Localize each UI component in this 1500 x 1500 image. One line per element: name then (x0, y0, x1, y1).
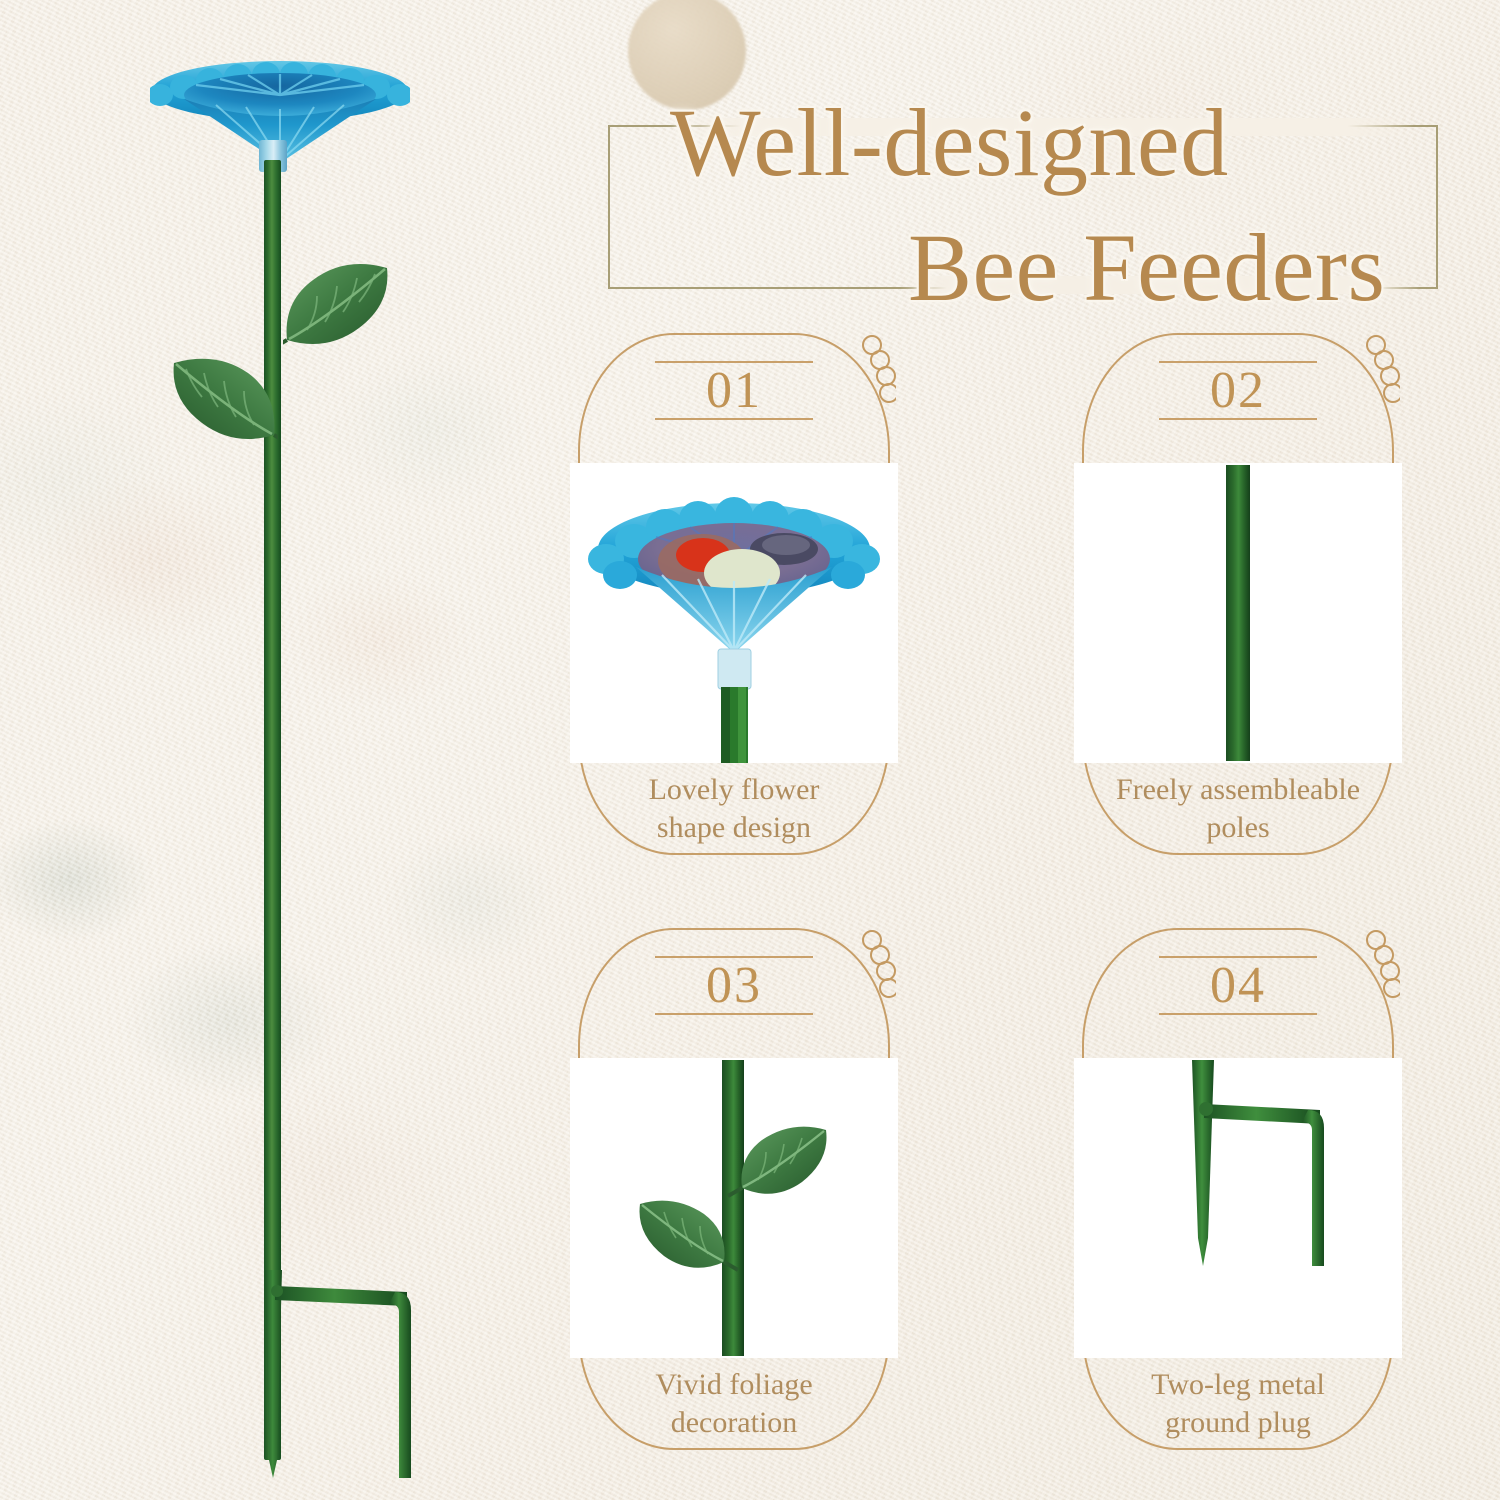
card-caption-02-line2: poles (1092, 809, 1384, 847)
two-leg-ground-stake-art (1074, 1058, 1402, 1358)
card-caption-03-line1: Vivid foliage (588, 1366, 880, 1404)
card-number-04: 04 (1082, 958, 1394, 1013)
card-number-block-04: 04 (1082, 956, 1394, 1015)
card-caption-03-line2: decoration (588, 1404, 880, 1442)
card-caption-01: Lovely flower shape design (588, 771, 880, 847)
card-image-band-01 (570, 463, 898, 763)
card-number-block-03: 03 (578, 956, 890, 1015)
header-block: Well-designed Bee Feeders (600, 40, 1450, 305)
green-pole-segment-art (1074, 463, 1402, 763)
feature-card-01[interactable]: 01 (578, 333, 890, 855)
card-number-block-02: 02 (1082, 361, 1394, 420)
card-caption-01-line1: Lovely flower (588, 771, 880, 809)
card-number-01: 01 (578, 363, 890, 418)
infographic-canvas: Well-designed Bee Feeders (0, 0, 1500, 1500)
ground-stake-legs (255, 1270, 445, 1500)
page-title-line-1: Well-designed (670, 87, 1229, 198)
product-hero-image (0, 0, 560, 1500)
card-caption-03: Vivid foliage decoration (588, 1366, 880, 1442)
card-image-band-03 (570, 1058, 898, 1358)
card-image-band-02 (1074, 463, 1402, 763)
feature-card-03[interactable]: 03 (578, 928, 890, 1450)
feature-card-04[interactable]: 04 (1082, 928, 1394, 1450)
feature-card-02[interactable]: 02 (1082, 333, 1394, 855)
card-caption-01-line2: shape design (588, 809, 880, 847)
stem-with-two-leaves-art (570, 1058, 898, 1358)
card-caption-02: Freely assembleable poles (1092, 771, 1384, 847)
card-image-band-04 (1074, 1058, 1402, 1358)
card-number-03: 03 (578, 958, 890, 1013)
page-title-line-2: Bee Feeders (908, 212, 1385, 323)
leaf-lower-left (168, 355, 278, 447)
card-caption-04-line1: Two-leg metal (1092, 1366, 1384, 1404)
card-caption-04-line2: ground plug (1092, 1404, 1384, 1442)
flower-dish-closeup-art (570, 463, 898, 763)
card-caption-04: Two-leg metal ground plug (1092, 1366, 1384, 1442)
card-caption-02-line1: Freely assembleable (1092, 771, 1384, 809)
card-number-02: 02 (1082, 363, 1394, 418)
card-number-block-01: 01 (578, 361, 890, 420)
leaf-upper-right (283, 262, 393, 350)
